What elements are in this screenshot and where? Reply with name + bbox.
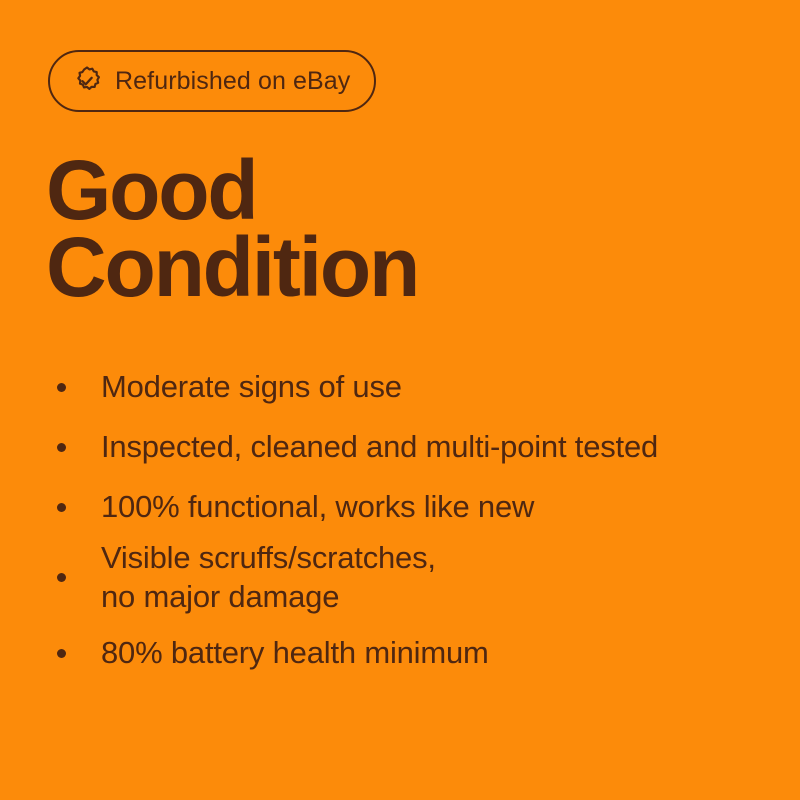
list-item-label: 80% battery health minimum	[101, 633, 489, 672]
bullet-dot-icon	[57, 503, 66, 512]
bullet-dot-icon	[57, 649, 66, 658]
list-item: Visible scruffs/scratches, no major dama…	[48, 534, 758, 620]
verified-rosette-check-icon	[72, 66, 102, 96]
list-item-label: 100% functional, works like new	[101, 487, 534, 526]
refurbished-badge-label: Refurbished on eBay	[115, 69, 350, 94]
condition-feature-list: Moderate signs of use Inspected, cleaned…	[48, 360, 758, 680]
bullet-dot-icon	[57, 383, 66, 392]
list-item: Moderate signs of use	[48, 360, 758, 414]
list-item: 100% functional, works like new	[48, 480, 758, 534]
list-item: Inspected, cleaned and multi-point teste…	[48, 420, 758, 474]
page-title: Good Condition	[46, 152, 418, 307]
bullet-dot-icon	[57, 443, 66, 452]
refurbished-condition-card: Refurbished on eBay Good Condition Moder…	[0, 0, 800, 800]
refurbished-badge[interactable]: Refurbished on eBay	[48, 50, 376, 112]
list-item: 80% battery health minimum	[48, 626, 758, 680]
bullet-dot-icon	[57, 573, 66, 582]
list-item-label: Moderate signs of use	[101, 367, 402, 406]
list-item-label: Visible scruffs/scratches, no major dama…	[101, 538, 436, 617]
list-item-label: Inspected, cleaned and multi-point teste…	[101, 427, 658, 466]
